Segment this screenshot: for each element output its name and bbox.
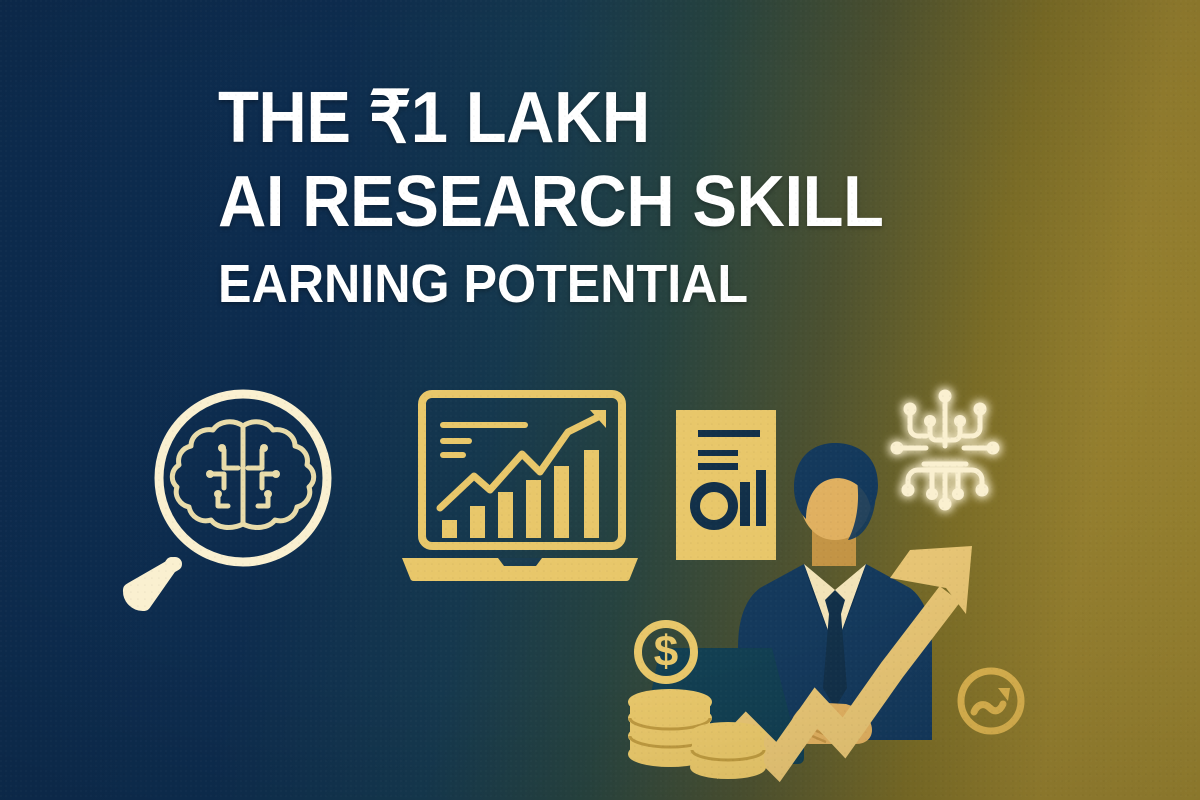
poster-canvas: THE ₹1 LAKH AI RESEARCH SKILL EARNING PO…: [0, 0, 1200, 800]
magnifier-brain-icon: [112, 378, 338, 604]
magnifier-handle-shape: [130, 564, 175, 604]
laptop-chart-bars: [442, 450, 599, 538]
trend-badge-arrowhead: [998, 688, 1010, 701]
dollar-coin-symbol: $: [654, 627, 678, 676]
page-title: THE ₹1 LAKH AI RESEARCH SKILL EARNING PO…: [218, 84, 1058, 310]
laptop-growth-chart-icon: [394, 388, 646, 586]
laptop-screen-text-lines: [440, 422, 528, 458]
trend-badge-arrow: [974, 704, 1003, 712]
brain-glyph: [172, 422, 313, 528]
laptop-base-notch: [498, 558, 542, 566]
headline-line-1: THE ₹1 LAKH: [218, 84, 999, 154]
trend-badge-ring: [961, 671, 1021, 731]
coin-stack-icon: $: [624, 618, 774, 788]
headline-line-2: AI RESEARCH SKILL: [218, 168, 999, 238]
laptop-chart-trend-arrow: [440, 416, 600, 508]
trend-badge-icon: [952, 662, 1030, 740]
headline-line-3: EARNING POTENTIAL: [218, 258, 999, 310]
coin-stack-right: [692, 724, 764, 777]
